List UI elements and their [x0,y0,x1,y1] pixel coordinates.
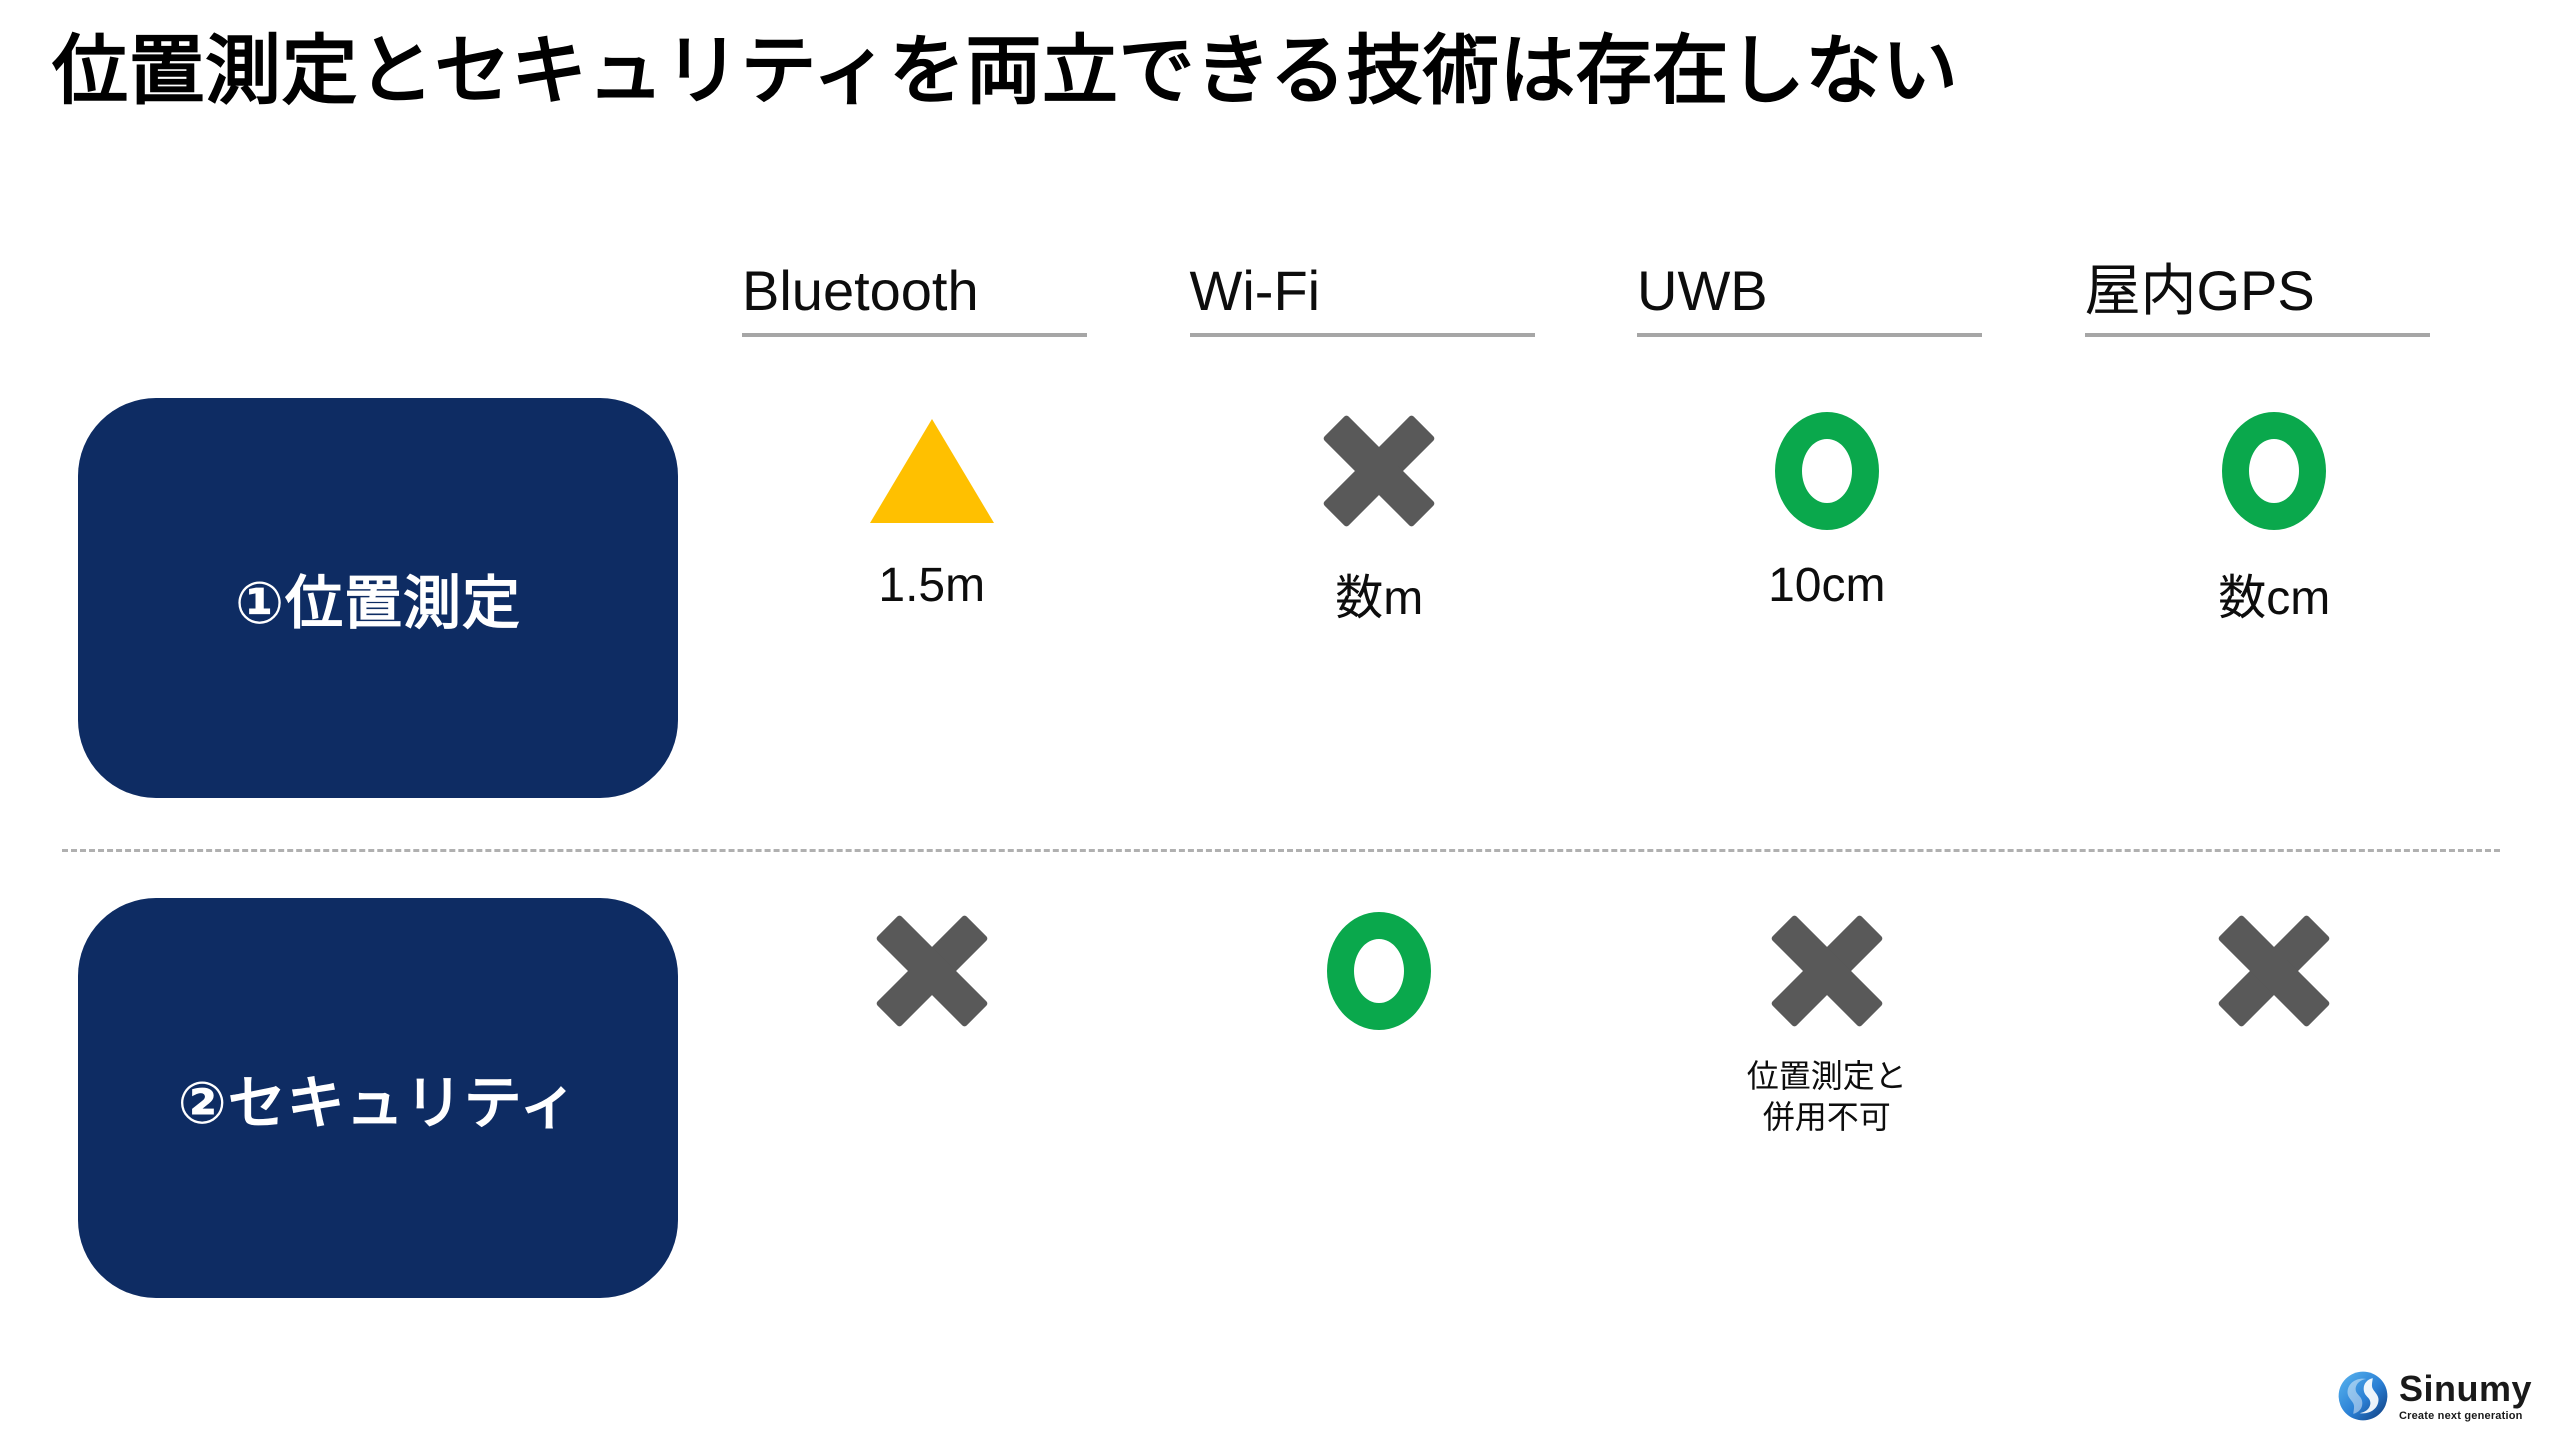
column-header-rule [1190,333,1535,337]
cell-positioning-indoor-gps: 数cm [2073,398,2521,798]
row-cells: 位置測定と 併用不可 [730,898,2520,1298]
column-header-rule [742,333,1087,337]
rating-mark [2216,906,2332,1036]
cell-security-uwb: 位置測定と 併用不可 [1625,898,2073,1298]
cross-icon [1321,413,1437,529]
cell-positioning-bluetooth: 1.5m [730,398,1178,798]
cell-security-indoor-gps [2073,898,2521,1298]
cross-icon [1769,913,1885,1029]
cell-positioning-wifi: 数m [1178,398,1626,798]
column-header-rule [2085,333,2430,337]
row-label: ①位置測定 [235,556,521,640]
cell-positioning-uwb: 10cm [1625,398,2073,798]
cell-note-line1: 位置測定と [1747,1056,1907,1097]
row-divider [62,849,2500,852]
column-header-label: UWB [1637,262,1768,321]
logo-name: Sinumy [2399,1371,2532,1407]
cell-security-bluetooth [730,898,1178,1298]
row-label-card-security: ②セキュリティ [78,898,678,1298]
globe-swirl-icon [2337,1370,2389,1422]
logo-text: Sinumy Create next generation [2399,1371,2532,1422]
cell-value: 数cm [2218,558,2330,628]
rating-mark [1321,406,1437,536]
column-header-label: Bluetooth [742,262,979,321]
row-cells: 1.5m 数m 10cm 数cm [730,398,2520,798]
rating-mark [870,406,994,536]
column-header-uwb: UWB [1625,262,2073,372]
column-header-row: Bluetooth Wi-Fi UWB 屋内GPS [730,262,2520,372]
rating-mark [1769,906,1885,1036]
column-header-rule [1637,333,1982,337]
column-header-wifi: Wi-Fi [1178,262,1626,372]
table-row: ①位置測定 1.5m 数m 10cm [0,398,2560,798]
cell-value: 10cm [1768,558,1885,613]
cross-icon [2216,913,2332,1029]
rating-mark [2222,406,2326,536]
cell-value: 数m [1335,558,1423,628]
column-header-bluetooth: Bluetooth [730,262,1178,372]
cell-note: 位置測定と 併用不可 [1747,1056,1907,1138]
cell-note-line2: 併用不可 [1747,1097,1907,1138]
circle-icon [1775,412,1879,530]
rating-mark [1775,406,1879,536]
table-row: ②セキュリティ 位置測定と 併用不可 [0,898,2560,1298]
rating-mark [874,906,990,1036]
column-header-indoor-gps: 屋内GPS [2073,262,2521,372]
circle-icon [2222,412,2326,530]
comparison-matrix: Bluetooth Wi-Fi UWB 屋内GPS ①位置測定 1.5m [0,0,2560,1440]
triangle-icon [870,419,994,523]
column-header-label: Wi-Fi [1190,262,1321,321]
rating-mark [1327,906,1431,1036]
circle-icon [1327,912,1431,1030]
row-label: ②セキュリティ [178,1056,579,1140]
cell-value: 1.5m [878,558,985,613]
brand-logo: Sinumy Create next generation [2337,1370,2532,1422]
cell-security-wifi [1178,898,1626,1298]
row-label-card-positioning: ①位置測定 [78,398,678,798]
column-header-label: 屋内GPS [2085,262,2315,321]
logo-tagline: Create next generation [2399,1411,2532,1422]
cross-icon [874,913,990,1029]
